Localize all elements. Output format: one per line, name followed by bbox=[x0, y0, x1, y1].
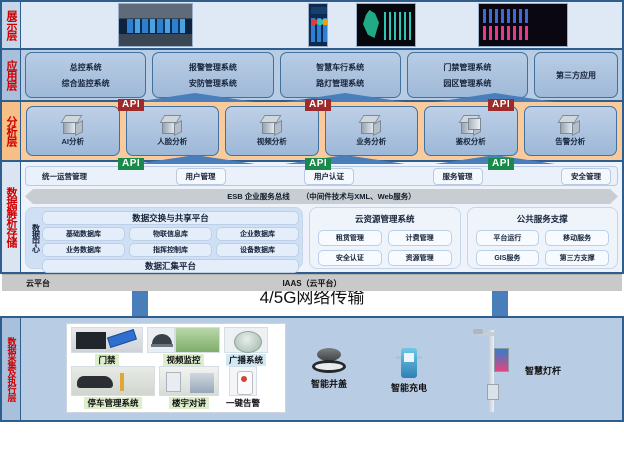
device-smart-manhole[interactable]: 智能井盖 bbox=[311, 348, 347, 390]
app-box-line2: 园区管理系统 bbox=[443, 78, 491, 89]
device-tag: 停车管理系统 bbox=[84, 397, 141, 409]
analysis-box-face[interactable]: 人脸分析 bbox=[126, 106, 220, 156]
speaker-icon bbox=[224, 327, 268, 353]
parking-lot-photo bbox=[71, 366, 155, 396]
server-icon bbox=[61, 115, 85, 135]
dome-camera-icon bbox=[147, 327, 175, 353]
api-badge-analysis-center: API bbox=[305, 158, 331, 170]
db-chip-business[interactable]: 业务数据库 bbox=[42, 243, 125, 257]
device-building-intercom[interactable]: 楼宇对讲 bbox=[159, 366, 219, 409]
data-center-card: 数据中心 数据交换与共享平台 基础数据库 物联信息库 企业数据库 业务数据库 bbox=[25, 207, 303, 269]
server-icon bbox=[260, 115, 284, 135]
cloud-platform-center-label: IAAS（云平台） bbox=[2, 278, 622, 289]
mobile-app-thumbnail bbox=[308, 3, 328, 47]
intercom-photo bbox=[159, 366, 219, 396]
cloud-chip-billing[interactable]: 计费管理 bbox=[388, 230, 452, 246]
device-parking-management[interactable]: 停车管理系统 bbox=[71, 366, 155, 409]
analysis-box-label: AI分析 bbox=[62, 136, 85, 147]
app-box-line1: 智慧车行系统 bbox=[316, 62, 364, 73]
smart-lamp-pole-icon bbox=[471, 326, 517, 412]
db-chip-device[interactable]: 设备数据库 bbox=[216, 243, 299, 257]
panic-button-icon bbox=[229, 366, 257, 396]
charts-dashboard-thumbnail bbox=[478, 3, 568, 47]
storage-layer-label: 数据解析存储 bbox=[2, 162, 21, 272]
analysis-box-label: 业务分析 bbox=[356, 136, 386, 147]
mgmt-item-security-management[interactable]: 安全管理 bbox=[561, 168, 611, 185]
data-center-label: 数据中心 bbox=[29, 211, 42, 265]
public-chip-third-party[interactable]: 第三方支撑 bbox=[545, 250, 609, 266]
cloud-chip-resource[interactable]: 资源管理 bbox=[388, 250, 452, 266]
app-box-master-control[interactable]: 总控系统 综合监控系统 bbox=[25, 52, 146, 98]
db-chip-enterprise[interactable]: 企业数据库 bbox=[216, 227, 299, 241]
device-smart-charging[interactable]: 智能充电 bbox=[391, 348, 427, 394]
mgmt-item-unified-ops[interactable]: 统一运营管理 bbox=[32, 168, 97, 185]
esb-bus-bar: ESB 企业服务总线 （中间件技术与XML、Web服务） bbox=[25, 189, 618, 204]
public-service-inner: 公共服务支撑 平台运行 移动服务 GIS服务 第三方支撑 bbox=[471, 211, 615, 265]
app-box-line2: 综合监控系统 bbox=[62, 78, 110, 89]
app-box-line1: 报警管理系统 bbox=[189, 62, 237, 73]
public-chip-platform-ops[interactable]: 平台运行 bbox=[476, 230, 540, 246]
database-grid: 基础数据库 物联信息库 企业数据库 业务数据库 指挥控制库 设备数据库 bbox=[42, 227, 299, 257]
db-chip-command[interactable]: 指挥控制库 bbox=[129, 243, 212, 257]
api-arrow-up-storage-left bbox=[135, 155, 255, 164]
api-arrow-up-center bbox=[285, 93, 405, 102]
cloud-resource-grid: 租赁管理 计费管理 安全认证 资源管理 bbox=[313, 230, 457, 266]
analysis-layer-label: 分析层 bbox=[2, 102, 21, 160]
device-tag: 广播系统 bbox=[226, 354, 266, 366]
dual-server-icon bbox=[459, 115, 483, 135]
api-badge-analysis-right: API bbox=[488, 158, 514, 170]
cloud-chip-security-auth[interactable]: 安全认证 bbox=[318, 250, 382, 266]
database-row: 业务数据库 指挥控制库 设备数据库 bbox=[42, 243, 299, 257]
storage-layer: 数据解析存储 统一运营管理 用户管理 用户认证 服务管理 安全管理 ESB 企业… bbox=[0, 162, 624, 274]
street-scene-photo bbox=[175, 327, 220, 353]
device-layer-body: 门禁 视频监控 广播系统 bbox=[21, 318, 622, 420]
analysis-box-ai[interactable]: AI分析 bbox=[26, 106, 120, 156]
public-service-row: GIS服务 第三方支撑 bbox=[476, 250, 610, 266]
device-tag: 视频监控 bbox=[163, 354, 203, 366]
app-box-line2: 安防管理系统 bbox=[189, 78, 237, 89]
server-icon bbox=[359, 115, 383, 135]
analysis-box-label: 告警分析 bbox=[555, 136, 585, 147]
device-access-control[interactable]: 门禁 bbox=[71, 327, 143, 366]
analysis-layer: 分析层 AI分析 人脸分析 视频分析 业务分析 bbox=[0, 102, 624, 162]
charging-pile-icon bbox=[396, 348, 422, 378]
storage-layer-body: 统一运营管理 用户管理 用户认证 服务管理 安全管理 ESB 企业服务总线 （中… bbox=[21, 162, 622, 272]
mgmt-item-user-management[interactable]: 用户管理 bbox=[176, 168, 226, 185]
device-collage-panel: 门禁 视频监控 广播系统 bbox=[66, 323, 286, 413]
server-icon bbox=[558, 115, 582, 135]
analysis-box-video[interactable]: 视频分析 bbox=[225, 106, 319, 156]
manhole-cover-icon bbox=[312, 348, 346, 374]
public-service-grid: 平台运行 移动服务 GIS服务 第三方支撑 bbox=[471, 230, 615, 266]
app-box-line1: 总控系统 bbox=[70, 62, 102, 73]
analysis-box-business[interactable]: 业务分析 bbox=[325, 106, 419, 156]
app-box-line1: 门禁管理系统 bbox=[443, 62, 491, 73]
device-row-top: 门禁 视频监控 广播系统 bbox=[71, 327, 281, 366]
api-badge-app-right: API bbox=[488, 99, 514, 111]
cloud-resource-row: 租赁管理 计费管理 bbox=[318, 230, 452, 246]
app-box-alarm-management[interactable]: 报警管理系统 安防管理系统 bbox=[152, 52, 273, 98]
display-thumbnail-row bbox=[21, 2, 622, 48]
server-icon bbox=[160, 115, 184, 135]
mgmt-item-user-auth[interactable]: 用户认证 bbox=[304, 168, 354, 185]
display-layer-body bbox=[21, 2, 622, 48]
api-badge-app-center: API bbox=[305, 99, 331, 111]
analysis-box-label: 鉴权分析 bbox=[456, 136, 486, 147]
control-room-thumbnail bbox=[118, 3, 193, 47]
analysis-box-label: 人脸分析 bbox=[157, 136, 187, 147]
application-layer-label: 应用层 bbox=[2, 50, 21, 100]
cloud-resource-card: 云资源管理系统 租赁管理 计费管理 安全认证 资源管理 bbox=[309, 207, 461, 269]
cloud-platform-bar: 云平台 IAAS（云平台） bbox=[2, 274, 622, 291]
device-layer-label: 数据采集及执行层 bbox=[2, 318, 21, 420]
analysis-box-alarm[interactable]: 告警分析 bbox=[524, 106, 618, 156]
app-box-smart-vehicle[interactable]: 智慧车行系统 路灯管理系统 bbox=[280, 52, 401, 98]
public-service-row: 平台运行 移动服务 bbox=[476, 230, 610, 246]
api-arrow-up-left bbox=[135, 93, 255, 102]
app-box-access-management[interactable]: 门禁管理系统 园区管理系统 bbox=[407, 52, 528, 98]
display-layer: 展示层 bbox=[0, 0, 624, 50]
data-exchange-platform-band[interactable]: 数据交换与共享平台 bbox=[42, 211, 299, 225]
db-chip-iot[interactable]: 物联信息库 bbox=[129, 227, 212, 241]
analysis-box-auth[interactable]: 鉴权分析 bbox=[424, 106, 518, 156]
esb-title: ESB 企业服务总线 bbox=[227, 191, 290, 202]
public-service-title: 公共服务支撑 bbox=[471, 211, 615, 228]
cloud-resource-title: 云资源管理系统 bbox=[313, 211, 457, 228]
esb-note: （中间件技术与XML、Web服务） bbox=[302, 191, 416, 202]
cloud-resource-inner: 云资源管理系统 租赁管理 计费管理 安全认证 资源管理 bbox=[313, 211, 457, 265]
gis-map-dashboard-thumbnail bbox=[356, 3, 416, 47]
app-box-third-party[interactable]: 第三方应用 bbox=[534, 52, 618, 98]
api-badge-app-left: API bbox=[118, 99, 144, 111]
data-center-inner: 数据交换与共享平台 基础数据库 物联信息库 企业数据库 业务数据库 指挥控制库 … bbox=[42, 211, 299, 265]
device-tag: 一键告警 bbox=[223, 397, 263, 409]
app-box-line2: 路灯管理系统 bbox=[316, 78, 364, 89]
mgmt-item-service-management[interactable]: 服务管理 bbox=[433, 168, 483, 185]
public-chip-mobile[interactable]: 移动服务 bbox=[545, 230, 609, 246]
device-one-key-alarm[interactable]: 一键告警 bbox=[223, 366, 263, 409]
display-layer-label: 展示层 bbox=[2, 2, 21, 48]
cloud-chip-lease[interactable]: 租赁管理 bbox=[318, 230, 382, 246]
device-layer: 数据采集及执行层 门禁 视频监控 bbox=[0, 316, 624, 422]
device-tag: 门禁 bbox=[95, 354, 118, 366]
api-badge-analysis-left: API bbox=[118, 158, 144, 170]
public-chip-gis[interactable]: GIS服务 bbox=[476, 250, 540, 266]
data-aggregation-platform-band[interactable]: 数据汇集平台 bbox=[42, 259, 299, 273]
solo-device-label: 智能井盖 bbox=[311, 377, 347, 390]
solo-device-label: 智慧灯杆 bbox=[525, 364, 561, 377]
database-row: 基础数据库 物联信息库 企业数据库 bbox=[42, 227, 299, 241]
solo-device-label: 智能充电 bbox=[391, 381, 427, 394]
device-broadcast-system[interactable]: 广播系统 bbox=[224, 327, 268, 366]
access-control-icon bbox=[71, 327, 143, 353]
api-arrow-up-storage-center bbox=[285, 155, 405, 164]
db-chip-basic[interactable]: 基础数据库 bbox=[42, 227, 125, 241]
storage-card-row: 数据中心 数据交换与共享平台 基础数据库 物联信息库 企业数据库 业务数据库 bbox=[25, 207, 618, 269]
device-smart-lamp-pole[interactable]: 智慧灯杆 bbox=[471, 326, 561, 412]
app-box-line1: 第三方应用 bbox=[556, 70, 596, 81]
public-service-card: 公共服务支撑 平台运行 移动服务 GIS服务 第三方支撑 bbox=[467, 207, 619, 269]
analysis-box-label: 视频分析 bbox=[257, 136, 287, 147]
device-tag: 楼宇对讲 bbox=[169, 397, 209, 409]
cloud-resource-row: 安全认证 资源管理 bbox=[318, 250, 452, 266]
device-video-surveillance[interactable]: 视频监控 bbox=[147, 327, 220, 366]
architecture-diagram: 展示层 应用层 总控系统 综合监控系统 报警管理系统 安防管理系统 bbox=[0, 0, 624, 450]
device-row-bottom: 停车管理系统 楼宇对讲 一键告警 bbox=[71, 366, 281, 409]
